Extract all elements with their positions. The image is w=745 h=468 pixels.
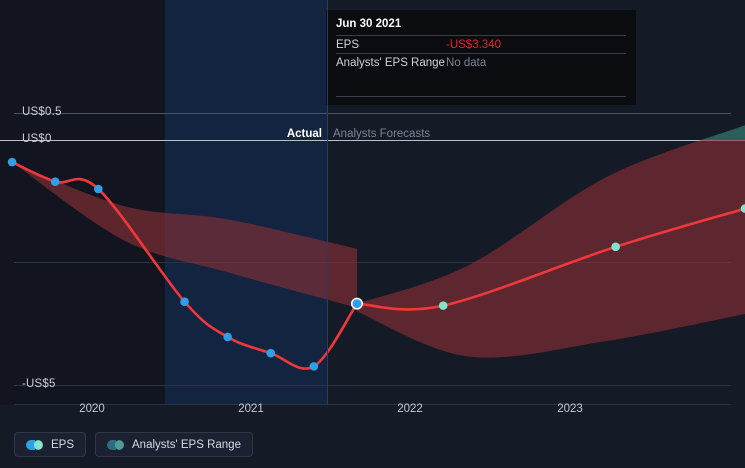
- legend-swatch-range-icon: [107, 440, 124, 450]
- tooltip-label-eps: EPS: [336, 39, 446, 51]
- tooltip-row-range: Analysts' EPS Range No data: [336, 53, 626, 71]
- legend-item-analysts-range[interactable]: Analysts' EPS Range: [95, 432, 253, 457]
- legend-swatch-eps-icon: [26, 440, 43, 450]
- x-axis-label-2022: 2022: [397, 403, 423, 415]
- legend-label-eps: EPS: [51, 439, 74, 451]
- x-axis-line: [14, 404, 731, 405]
- tooltip-label-range: Analysts' EPS Range: [336, 57, 446, 69]
- x-axis-label-2023: 2023: [557, 403, 583, 415]
- tooltip-value-eps: -US$3.340: [446, 39, 501, 51]
- actual-forecast-divider: [327, 0, 328, 405]
- caption-forecast: Analysts Forecasts: [333, 128, 430, 140]
- tooltip-value-range: No data: [446, 57, 486, 69]
- tooltip-date: Jun 30 2021: [336, 18, 626, 35]
- x-axis-label-2020: 2020: [79, 403, 105, 415]
- tooltip-row-eps: EPS -US$3.340: [336, 35, 626, 53]
- legend-label-analysts-range: Analysts' EPS Range: [132, 439, 241, 451]
- caption-actual: Actual: [287, 128, 322, 140]
- chart-legend: EPS Analysts' EPS Range: [14, 432, 253, 457]
- eps-chart-widget: US$0.5 US$0 -US$5 2020 2021 2022 2023 Ac…: [0, 0, 745, 468]
- tooltip-footer-rule: [336, 96, 626, 98]
- legend-item-eps[interactable]: EPS: [14, 432, 86, 457]
- chart-tooltip: Jun 30 2021 EPS -US$3.340 Analysts' EPS …: [326, 10, 636, 105]
- x-axis-label-2021: 2021: [238, 403, 264, 415]
